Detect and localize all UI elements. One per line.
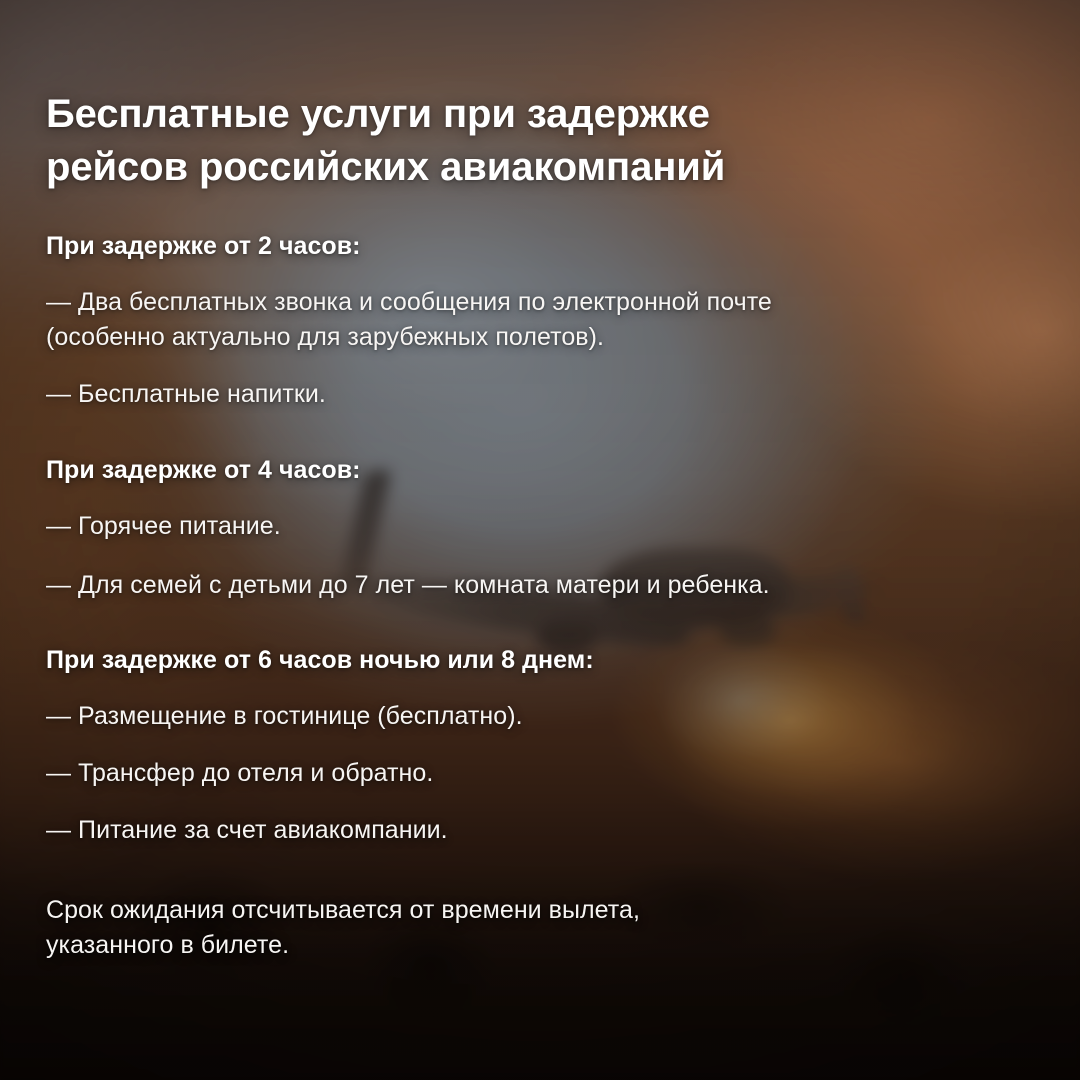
list-item: — Два бесплатных звонка и сообщения по э… — [46, 285, 1006, 354]
poster-canvas: Бесплатные услуги при задержке рейсов ро… — [0, 0, 1080, 1080]
list-item: — Для семей с детьми до 7 лет — комната … — [46, 568, 1006, 603]
footnote-text: Срок ожидания отсчитывается от времени в… — [46, 893, 946, 962]
section-heading-6-or-8-hours: При задержке от 6 часов ночью или 8 днем… — [46, 645, 594, 675]
list-item: — Размещение в гостинице (бесплатно). — [46, 699, 1006, 734]
page-title: Бесплатные услуги при задержке рейсов ро… — [46, 88, 926, 194]
section-heading-4-hours: При задержке от 4 часов: — [46, 455, 361, 485]
poster-content: Бесплатные услуги при задержке рейсов ро… — [0, 0, 1080, 1080]
list-item: — Питание за счет авиакомпании. — [46, 813, 1006, 848]
section-heading-2-hours: При задержке от 2 часов: — [46, 231, 361, 261]
list-item: — Трансфер до отеля и обратно. — [46, 756, 1006, 791]
list-item: — Горячее питание. — [46, 509, 1006, 544]
list-item: — Бесплатные напитки. — [46, 377, 1006, 412]
